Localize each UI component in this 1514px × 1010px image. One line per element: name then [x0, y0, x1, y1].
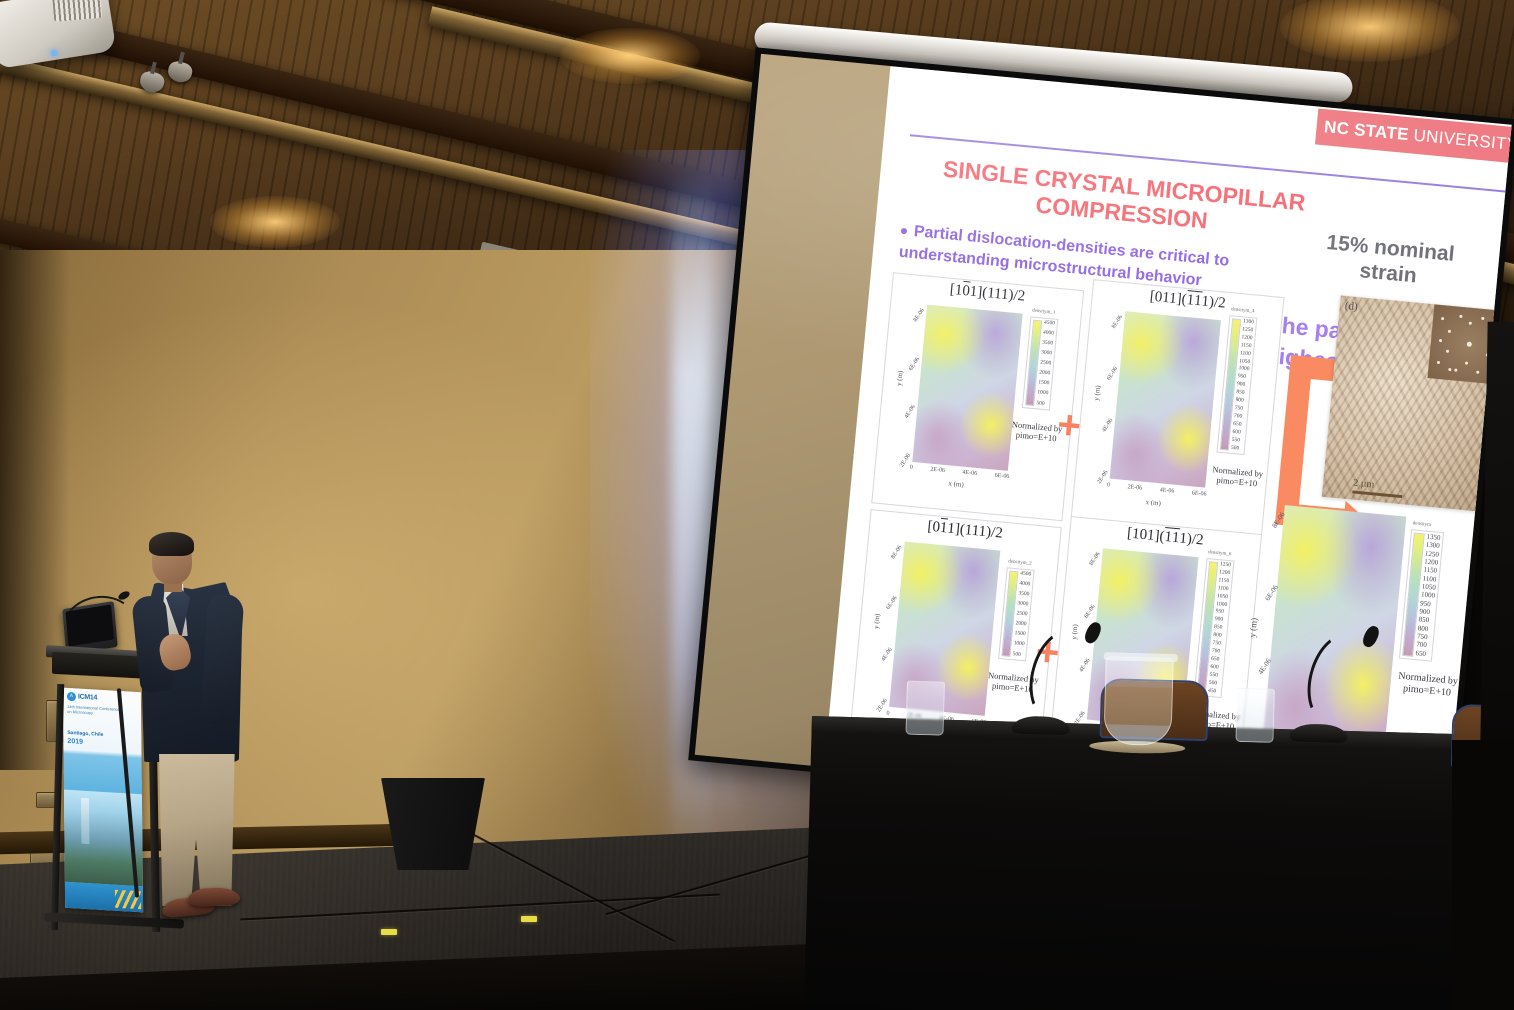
- projector-vent: [52, 0, 102, 22]
- presenter: [132, 530, 262, 925]
- total-plot-colorbar-title: densitym: [1412, 521, 1431, 528]
- plot-1-heatmap: [912, 305, 1022, 471]
- water-glass-left: [906, 681, 945, 736]
- pitcher-lid: [1104, 652, 1178, 662]
- icm14-logo-text: ICM14: [78, 694, 97, 702]
- icm14-city: Santiago, Chile: [67, 730, 103, 738]
- presenter-trousers: [154, 754, 238, 906]
- plot-cell-1: [101](111)/2 y (m) x (m) 02E-064E-066E-0…: [871, 272, 1084, 521]
- tem-panel-label: (d): [1344, 300, 1358, 313]
- water-glass-right: [1235, 688, 1274, 743]
- plot-2-heatmap: [1110, 311, 1221, 487]
- icm14-logo-mark: A: [67, 692, 76, 702]
- plot-2-normalization-note: Normalized by pimo=E+10: [1202, 463, 1274, 490]
- nc-state-bold: NC STATE: [1323, 117, 1409, 145]
- nc-state-thin: UNIVERSITY: [1413, 126, 1512, 156]
- bullet-dot-icon: [901, 228, 908, 235]
- presentation-photo-scene: A ICM14 14th International Conference on…: [0, 0, 1514, 1010]
- icm14-dates: 2019: [67, 738, 83, 747]
- tem-scale-bar-line: [1352, 490, 1402, 498]
- tem-scale-bar-label: 2 µm: [1353, 478, 1375, 491]
- stage-tape-marker: [521, 916, 537, 922]
- plot-4-colorbar-title: densitym_6: [1208, 550, 1232, 557]
- projector-led: [51, 50, 58, 57]
- nominal-strain-label: 15% nominal strain: [1302, 228, 1476, 294]
- plot-1-colorbar-title: densitym_1: [1032, 308, 1056, 315]
- plot-1-xlabel: x (m): [948, 479, 964, 488]
- tem-scale-bar: 2 µm: [1352, 478, 1403, 499]
- water-pitcher: [1103, 656, 1173, 746]
- plot-3-colorbar-title: densitym_2: [1008, 559, 1032, 566]
- icm14-logo: A ICM14: [67, 692, 97, 703]
- plot-2-colorbar: densitym_4 13001250120011501100105010009…: [1217, 315, 1258, 455]
- right-foreground-shadow: [1452, 740, 1514, 1010]
- presenter-hair: [149, 532, 194, 556]
- presenter-shoe: [188, 887, 241, 907]
- stage-tape-marker: [381, 929, 397, 935]
- plot-3-colorbar: densitym_2 45004000350030002500200015001…: [998, 567, 1035, 661]
- plot-1-colorbar: densitym_1 45004000350030002500200015001…: [1022, 316, 1059, 410]
- plot-4-colorbar: densitym_6 12501200115011001050100095090…: [1194, 558, 1235, 698]
- total-plot-colorbar: densitym 1350130012501200115011001050100…: [1399, 529, 1444, 662]
- panel-table: [804, 716, 1514, 1010]
- plot-2-xlabel: x (m): [1145, 498, 1161, 507]
- podium-leg: [51, 684, 64, 930]
- icm14-subtitle: 14th International Conference on Microsc…: [67, 704, 125, 717]
